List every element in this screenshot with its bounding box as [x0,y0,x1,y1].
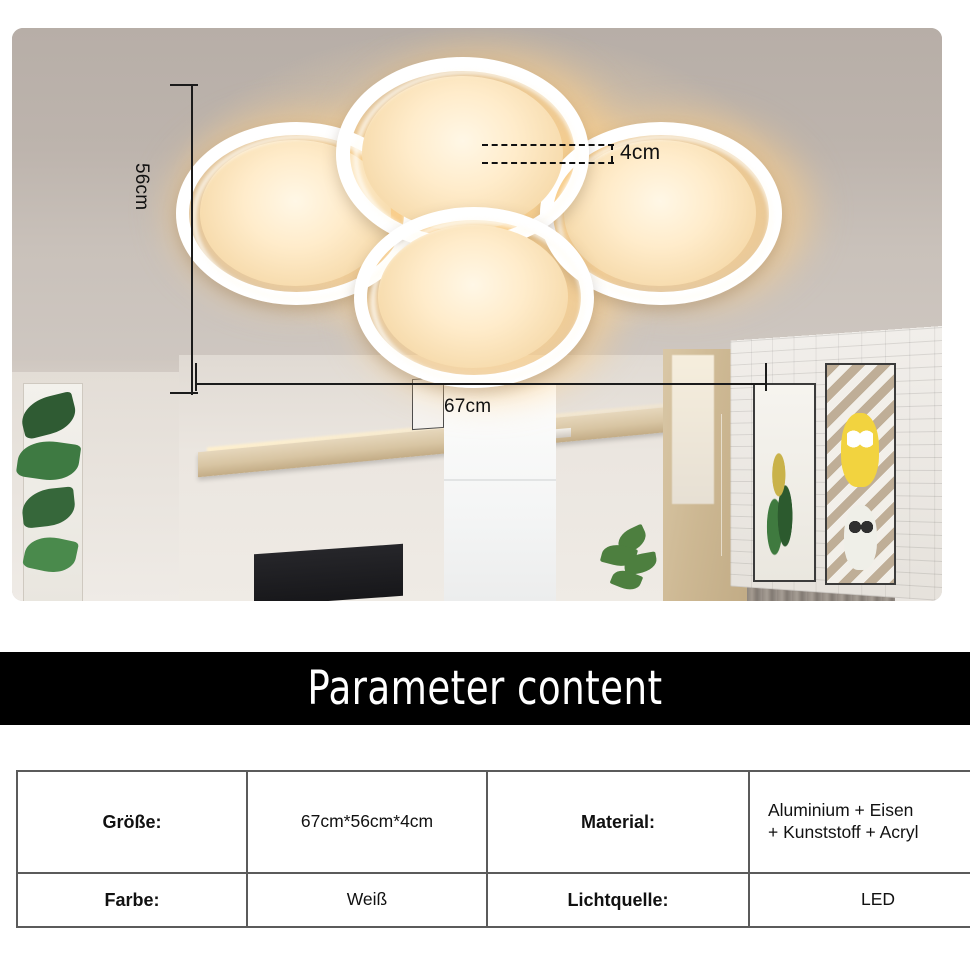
spec-label-lightsource: Lichtquelle: [487,873,749,927]
spec-value-color: Weiß [247,873,487,927]
spec-label-color: Farbe: [17,873,247,927]
width-dimension-line [195,383,767,385]
ring-bottom-glow-edge [371,219,585,383]
led-ceiling-lamp [12,28,942,601]
thickness-dash-bottom [482,162,614,164]
table-row: Farbe: Weiß Lichtquelle: LED [17,873,970,927]
spec-value-material: Aluminium + Eisen + Kunststoff + Acryl [749,771,970,873]
width-dimension-label: 67cm [444,396,491,418]
height-dim-cap-top [170,84,198,86]
spec-label-material: Material: [487,771,749,873]
thickness-dash-right [611,144,613,162]
width-dim-cap-right [765,363,767,391]
height-dimension-label: 56cm [130,163,152,210]
specification-table: Größe: 67cm*56cm*4cm Material: Aluminium… [16,770,970,928]
height-dim-cap-bottom [170,392,198,394]
spec-value-size: 67cm*56cm*4cm [247,771,487,873]
thickness-dimension-label: 4cm [620,141,660,165]
height-dimension-line [191,84,193,395]
spec-value-lightsource: LED [749,873,970,927]
banner-title: Parameter content [58,652,912,725]
thickness-dash-top [482,144,614,146]
spec-label-size: Größe: [17,771,247,873]
table-row: Größe: 67cm*56cm*4cm Material: Aluminium… [17,771,970,873]
width-dim-cap-left [195,363,197,391]
parameter-content-banner: Parameter content [0,652,970,725]
product-photo [12,28,942,601]
